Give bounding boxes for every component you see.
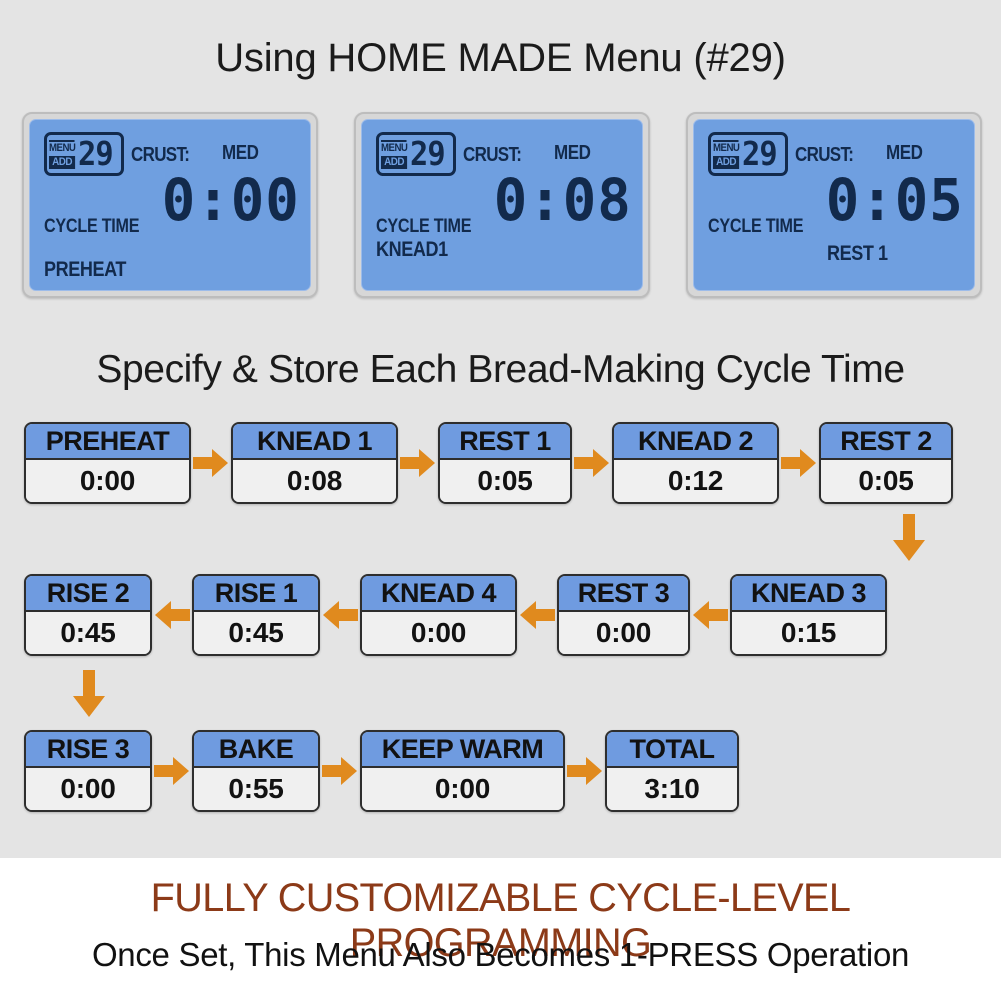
- cycle-duration: 0:45: [194, 612, 318, 654]
- menu-label: MENU: [713, 140, 739, 154]
- main-stage: Using HOME MADE Menu (#29) MENUADD29CRUS…: [0, 0, 1001, 858]
- arrow-down-rise2-to-rise3: [72, 670, 106, 718]
- cycle-box[interactable]: KNEAD 20:12: [612, 422, 779, 504]
- flow-row-1: PREHEAT0:00KNEAD 10:08REST 10:05KNEAD 20…: [24, 418, 953, 508]
- lcd-panel-2: MENUADD29CRUST:MEDCYCLE TIME0:08KNEAD1: [354, 112, 650, 298]
- cycle-label: PREHEAT: [26, 424, 189, 460]
- menu-add-badge: MENUADD29: [44, 132, 124, 176]
- cycle-box[interactable]: REST 30:00: [557, 574, 690, 656]
- page-title: Using HOME MADE Menu (#29): [0, 36, 1001, 81]
- lcd-stage-name: KNEAD1: [376, 238, 448, 262]
- arrow-left-icon: [690, 600, 730, 630]
- lcd-screen: MENUADD29CRUST:MEDCYCLE TIME0:05REST 1: [693, 119, 975, 291]
- crust-label: CRUST:: [795, 144, 853, 167]
- crust-value: MED: [222, 142, 259, 165]
- arrow-right-icon: [565, 756, 605, 786]
- lcd-panel-1: MENUADD29CRUST:MEDCYCLE TIME0:00PREHEAT: [22, 112, 318, 298]
- cycle-label: BAKE: [194, 732, 318, 768]
- cycle-time-label: CYCLE TIME: [376, 216, 471, 238]
- cycle-duration: 0:00: [26, 460, 189, 502]
- menu-number: 29: [742, 135, 782, 173]
- cycle-label: RISE 1: [194, 576, 318, 612]
- arrow-right-icon: [320, 756, 360, 786]
- cycle-time-value: 0:08: [494, 170, 632, 230]
- crust-value: MED: [886, 142, 923, 165]
- badge-labels: MENUADD: [711, 135, 742, 173]
- arrow-right-icon: [779, 448, 819, 478]
- cycle-label: TOTAL: [607, 732, 737, 768]
- footer-subline: Once Set, This Menu Also Becomes 1-PRESS…: [0, 936, 1001, 974]
- menu-add-badge: MENUADD29: [708, 132, 788, 176]
- add-label: ADD: [713, 156, 739, 169]
- section-subtitle: Specify & Store Each Bread-Making Cycle …: [0, 348, 1001, 392]
- menu-add-badge: MENUADD29: [376, 132, 456, 176]
- cycle-duration: 0:05: [821, 460, 951, 502]
- arrow-left-icon: [152, 600, 192, 630]
- arrow-left-icon: [517, 600, 557, 630]
- cycle-label: RISE 2: [26, 576, 150, 612]
- menu-number: 29: [410, 135, 450, 173]
- menu-label: MENU: [381, 140, 407, 154]
- add-label: ADD: [49, 156, 75, 169]
- cycle-time-value: 0:00: [162, 170, 300, 230]
- cycle-duration: 0:00: [362, 768, 563, 810]
- cycle-duration: 0:00: [26, 768, 150, 810]
- lcd-stage-name: PREHEAT: [44, 258, 126, 282]
- arrow-left-icon: [320, 600, 360, 630]
- crust-value: MED: [554, 142, 591, 165]
- cycle-time-label: CYCLE TIME: [708, 216, 803, 238]
- cycle-duration: 0:55: [194, 768, 318, 810]
- cycle-box[interactable]: KNEAD 10:08: [231, 422, 398, 504]
- cycle-flow-diagram: PREHEAT0:00KNEAD 10:08REST 10:05KNEAD 20…: [0, 418, 1001, 838]
- cycle-label: KEEP WARM: [362, 732, 563, 768]
- cycle-box[interactable]: KEEP WARM0:00: [360, 730, 565, 812]
- arrow-right-icon: [191, 448, 231, 478]
- cycle-label: RISE 3: [26, 732, 150, 768]
- arrow-right-icon: [398, 448, 438, 478]
- lcd-panel-row: MENUADD29CRUST:MEDCYCLE TIME0:00PREHEATM…: [22, 112, 982, 298]
- cycle-duration: 0:45: [26, 612, 150, 654]
- cycle-label: KNEAD 3: [732, 576, 885, 612]
- cycle-label: REST 2: [821, 424, 951, 460]
- crust-label: CRUST:: [463, 144, 521, 167]
- cycle-box[interactable]: KNEAD 30:15: [730, 574, 887, 656]
- lcd-stage-name: REST 1: [827, 242, 888, 266]
- cycle-box[interactable]: KNEAD 40:00: [360, 574, 517, 656]
- menu-label: MENU: [49, 140, 75, 154]
- cycle-box[interactable]: PREHEAT0:00: [24, 422, 191, 504]
- cycle-time-label: CYCLE TIME: [44, 216, 139, 238]
- cycle-duration: 0:05: [440, 460, 570, 502]
- cycle-duration: 0:08: [233, 460, 396, 502]
- cycle-label: KNEAD 1: [233, 424, 396, 460]
- cycle-box[interactable]: RISE 10:45: [192, 574, 320, 656]
- cycle-time-value: 0:05: [826, 170, 964, 230]
- flow-row-3: RISE 30:00BAKE0:55KEEP WARM0:00TOTAL3:10: [24, 726, 739, 816]
- add-label: ADD: [381, 156, 407, 169]
- lcd-screen: MENUADD29CRUST:MEDCYCLE TIME0:00PREHEAT: [29, 119, 311, 291]
- cycle-duration: 0:15: [732, 612, 885, 654]
- menu-number: 29: [78, 135, 118, 173]
- cycle-box[interactable]: TOTAL3:10: [605, 730, 739, 812]
- cycle-box[interactable]: REST 20:05: [819, 422, 953, 504]
- cycle-label: KNEAD 4: [362, 576, 515, 612]
- cycle-duration: 0:00: [559, 612, 688, 654]
- lcd-screen: MENUADD29CRUST:MEDCYCLE TIME0:08KNEAD1: [361, 119, 643, 291]
- badge-labels: MENUADD: [379, 135, 410, 173]
- lcd-panel-3: MENUADD29CRUST:MEDCYCLE TIME0:05REST 1: [686, 112, 982, 298]
- cycle-box[interactable]: RISE 20:45: [24, 574, 152, 656]
- crust-label: CRUST:: [131, 144, 189, 167]
- cycle-duration: 0:00: [362, 612, 515, 654]
- arrow-right-icon: [572, 448, 612, 478]
- arrow-right-icon: [152, 756, 192, 786]
- badge-labels: MENUADD: [47, 135, 78, 173]
- arrow-down-rest2-to-knead3: [892, 514, 926, 562]
- cycle-box[interactable]: BAKE0:55: [192, 730, 320, 812]
- cycle-box[interactable]: RISE 30:00: [24, 730, 152, 812]
- cycle-duration: 0:12: [614, 460, 777, 502]
- cycle-label: REST 3: [559, 576, 688, 612]
- cycle-box[interactable]: REST 10:05: [438, 422, 572, 504]
- cycle-label: KNEAD 2: [614, 424, 777, 460]
- footer-band: FULLY CUSTOMIZABLE CYCLE-LEVEL PROGRAMMI…: [0, 858, 1001, 996]
- cycle-label: REST 1: [440, 424, 570, 460]
- flow-row-2: RISE 20:45RISE 10:45KNEAD 40:00REST 30:0…: [24, 570, 887, 660]
- cycle-duration: 3:10: [607, 768, 737, 810]
